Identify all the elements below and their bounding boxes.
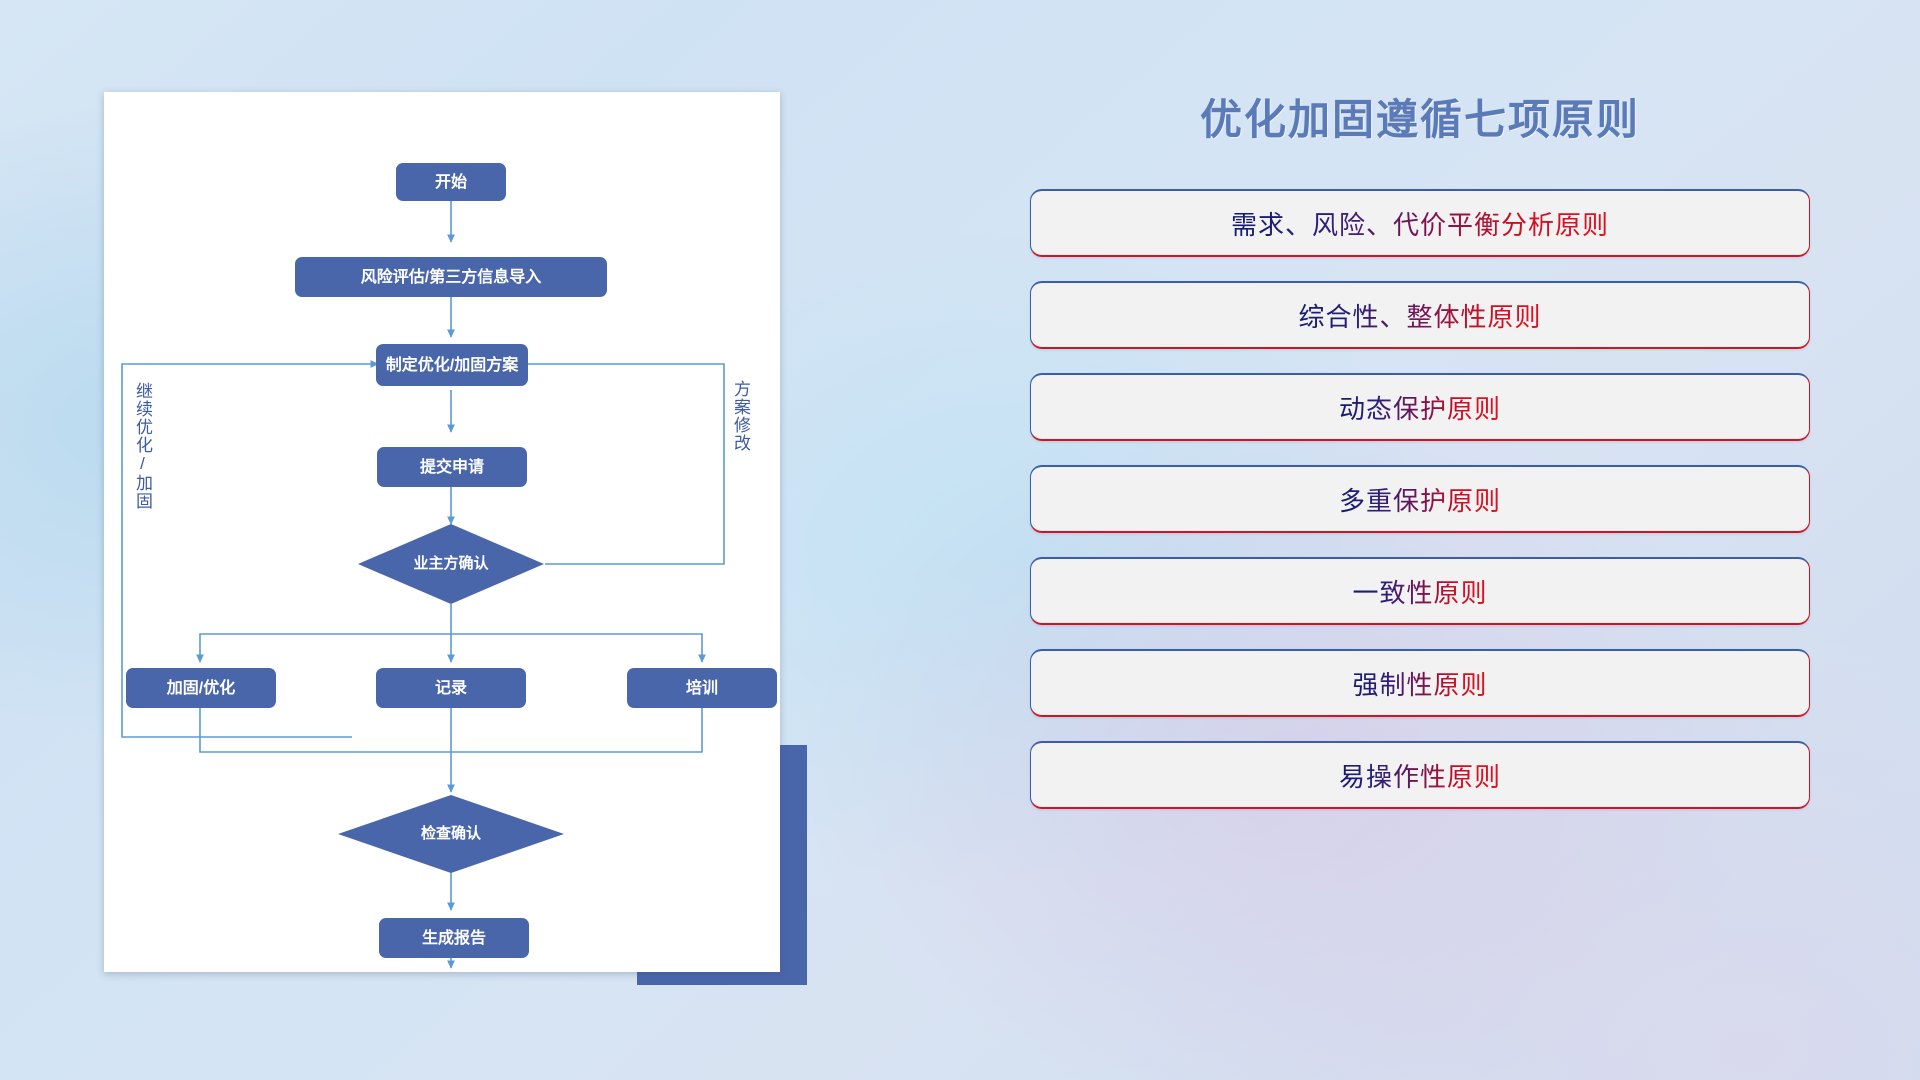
- list-item[interactable]: 易操作性原则: [1030, 741, 1810, 809]
- node-risk-assessment-label: 风险评估/第三方信息导入: [361, 267, 541, 286]
- list-item[interactable]: 多重保护原则: [1030, 465, 1810, 533]
- principle-label: 需求、风险、代价平衡分析原则: [1231, 205, 1609, 242]
- list-item[interactable]: 动态保护原则: [1030, 373, 1810, 441]
- edge-reinforce-merge: [200, 708, 451, 752]
- list-item[interactable]: 一致性原则: [1030, 557, 1810, 625]
- node-start: 开始: [396, 163, 506, 201]
- page-title: 优化加固遵循七项原则: [1010, 86, 1830, 147]
- flowchart-card: 开始 风险评估/第三方信息导入 制定优化/加固方案 提交申请 业主方确认 加固/: [104, 92, 780, 972]
- flowchart-diagram: 开始 风险评估/第三方信息导入 制定优化/加固方案 提交申请 业主方确认 加固/: [104, 92, 780, 972]
- node-training: 培训: [627, 668, 777, 708]
- principle-label: 动态保护原则: [1339, 389, 1501, 426]
- node-risk-assessment: 风险评估/第三方信息导入: [295, 257, 607, 297]
- principles-panel: 优化加固遵循七项原则 需求、风险、代价平衡分析原则 综合性、整体性原则 动态保护…: [1010, 86, 1830, 1016]
- node-make-plan: 制定优化/加固方案: [376, 344, 528, 386]
- principle-label: 易操作性原则: [1339, 757, 1501, 794]
- principle-label: 一致性原则: [1352, 573, 1487, 610]
- node-owner-confirm-label: 业主方确认: [413, 554, 489, 572]
- node-make-plan-label: 制定优化/加固方案: [386, 355, 519, 374]
- node-check-confirm: 检查确认: [338, 795, 564, 873]
- node-owner-confirm: 业主方确认: [358, 524, 544, 604]
- node-check-confirm-label: 检查确认: [421, 824, 482, 842]
- list-item[interactable]: 综合性、整体性原则: [1030, 281, 1810, 349]
- list-item[interactable]: 需求、风险、代价平衡分析原则: [1030, 189, 1810, 257]
- node-generate-report: 生成报告: [379, 918, 529, 958]
- list-item[interactable]: 强制性原则: [1030, 649, 1810, 717]
- principle-label: 强制性原则: [1352, 665, 1487, 702]
- principle-label: 综合性、整体性原则: [1298, 297, 1541, 334]
- node-generate-report-label: 生成报告: [422, 928, 486, 947]
- principle-label: 多重保护原则: [1339, 481, 1501, 518]
- edge-owner-to-plan-right: [501, 364, 724, 564]
- node-submit-application-label: 提交申请: [420, 457, 484, 476]
- node-submit-application: 提交申请: [377, 447, 527, 487]
- edge-owner-to-reinforce: [200, 634, 451, 662]
- node-training-label: 培训: [686, 678, 718, 697]
- edge-training-merge: [451, 708, 702, 752]
- node-record-label: 记录: [435, 679, 467, 697]
- principles-list: 需求、风险、代价平衡分析原则 综合性、整体性原则 动态保护原则 多重保护原则 一…: [1010, 189, 1830, 809]
- node-reinforce-optimize-label: 加固/优化: [166, 678, 235, 697]
- node-record: 记录: [376, 668, 526, 708]
- edge-owner-to-training: [451, 634, 702, 662]
- slide-canvas: 开始 风险评估/第三方信息导入 制定优化/加固方案 提交申请 业主方确认 加固/: [0, 0, 1920, 1080]
- edge-label-continue-optimize: 继续优化/加固: [134, 382, 151, 510]
- node-start-label: 开始: [435, 172, 467, 191]
- edge-label-plan-revision: 方案修改: [732, 380, 749, 452]
- node-reinforce-optimize: 加固/优化: [126, 668, 276, 708]
